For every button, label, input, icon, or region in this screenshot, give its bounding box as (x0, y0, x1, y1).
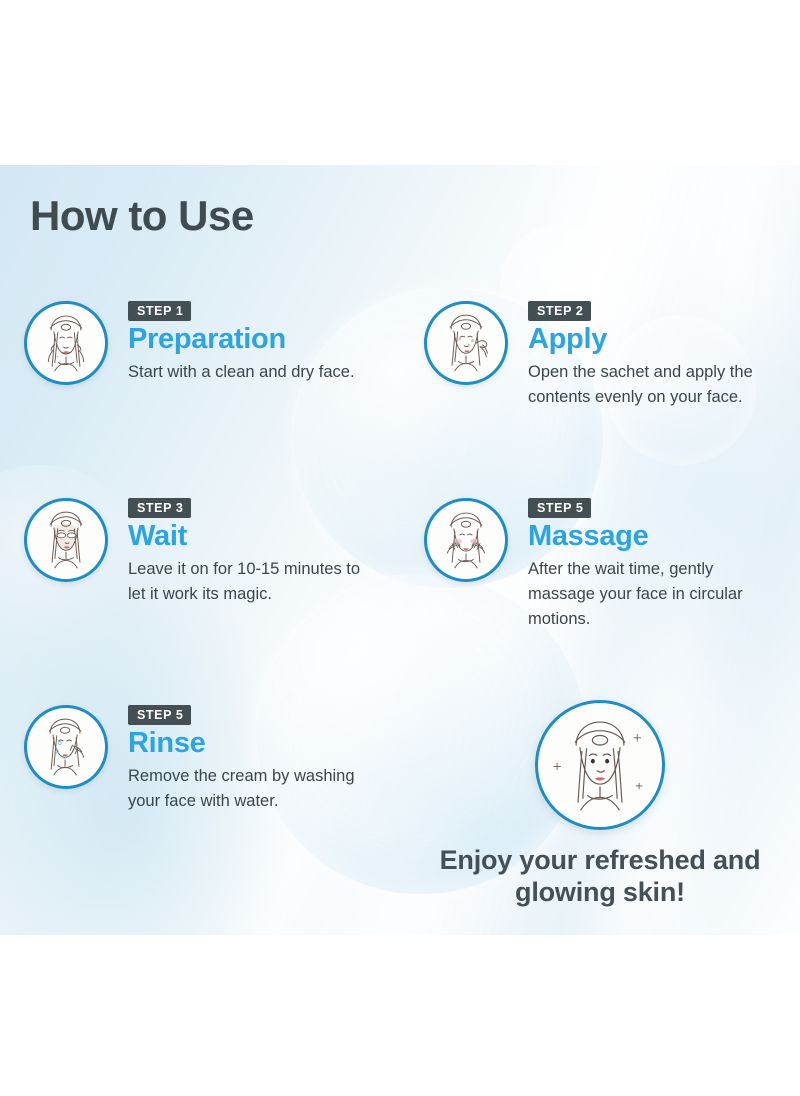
step-description: Open the sachet and apply the contents e… (528, 360, 768, 410)
step-badge: STEP 5 (128, 705, 191, 725)
face-applying-cream-icon (424, 301, 508, 385)
closing-block: Enjoy your refreshed and glowing skin! (424, 700, 776, 909)
step-description: Remove the cream by washing your face wi… (128, 764, 368, 814)
step-badge: STEP 2 (528, 301, 591, 321)
step-body: STEP 5 Rinse Remove the cream by washing… (128, 705, 368, 814)
closing-text: Enjoy your refreshed and glowing skin! (424, 844, 776, 909)
step-body: STEP 5 Massage After the wait time, gent… (528, 498, 768, 633)
step-title: Massage (528, 521, 768, 553)
content-panel: How to Use (0, 165, 800, 935)
face-cleansing-icon (24, 301, 108, 385)
face-waiting-eyes-closed-icon (24, 498, 108, 582)
step-description: Leave it on for 10-15 minutes to let it … (128, 557, 368, 607)
face-massage-two-hands-icon (424, 498, 508, 582)
step-description: Start with a clean and dry face. (128, 360, 368, 385)
step-title: Apply (528, 324, 768, 356)
step-body: STEP 1 Preparation Start with a clean an… (128, 301, 368, 385)
step-badge: STEP 1 (128, 301, 191, 321)
step-body: STEP 2 Apply Open the sachet and apply t… (528, 301, 768, 410)
step-body: STEP 3 Wait Leave it on for 10-15 minute… (128, 498, 368, 607)
step-title: Wait (128, 521, 368, 553)
step-title: Rinse (128, 728, 368, 760)
step-badge: STEP 5 (528, 498, 591, 518)
step-badge: STEP 3 (128, 498, 191, 518)
step-description: After the wait time, gently massage your… (528, 557, 768, 632)
page-title: How to Use (30, 195, 254, 237)
face-glowing-sparkles-icon (535, 700, 665, 830)
face-rinsing-water-icon (24, 705, 108, 789)
infographic-page: How to Use (0, 0, 800, 1096)
content-layer: How to Use (0, 165, 800, 935)
step-title: Preparation (128, 324, 368, 356)
